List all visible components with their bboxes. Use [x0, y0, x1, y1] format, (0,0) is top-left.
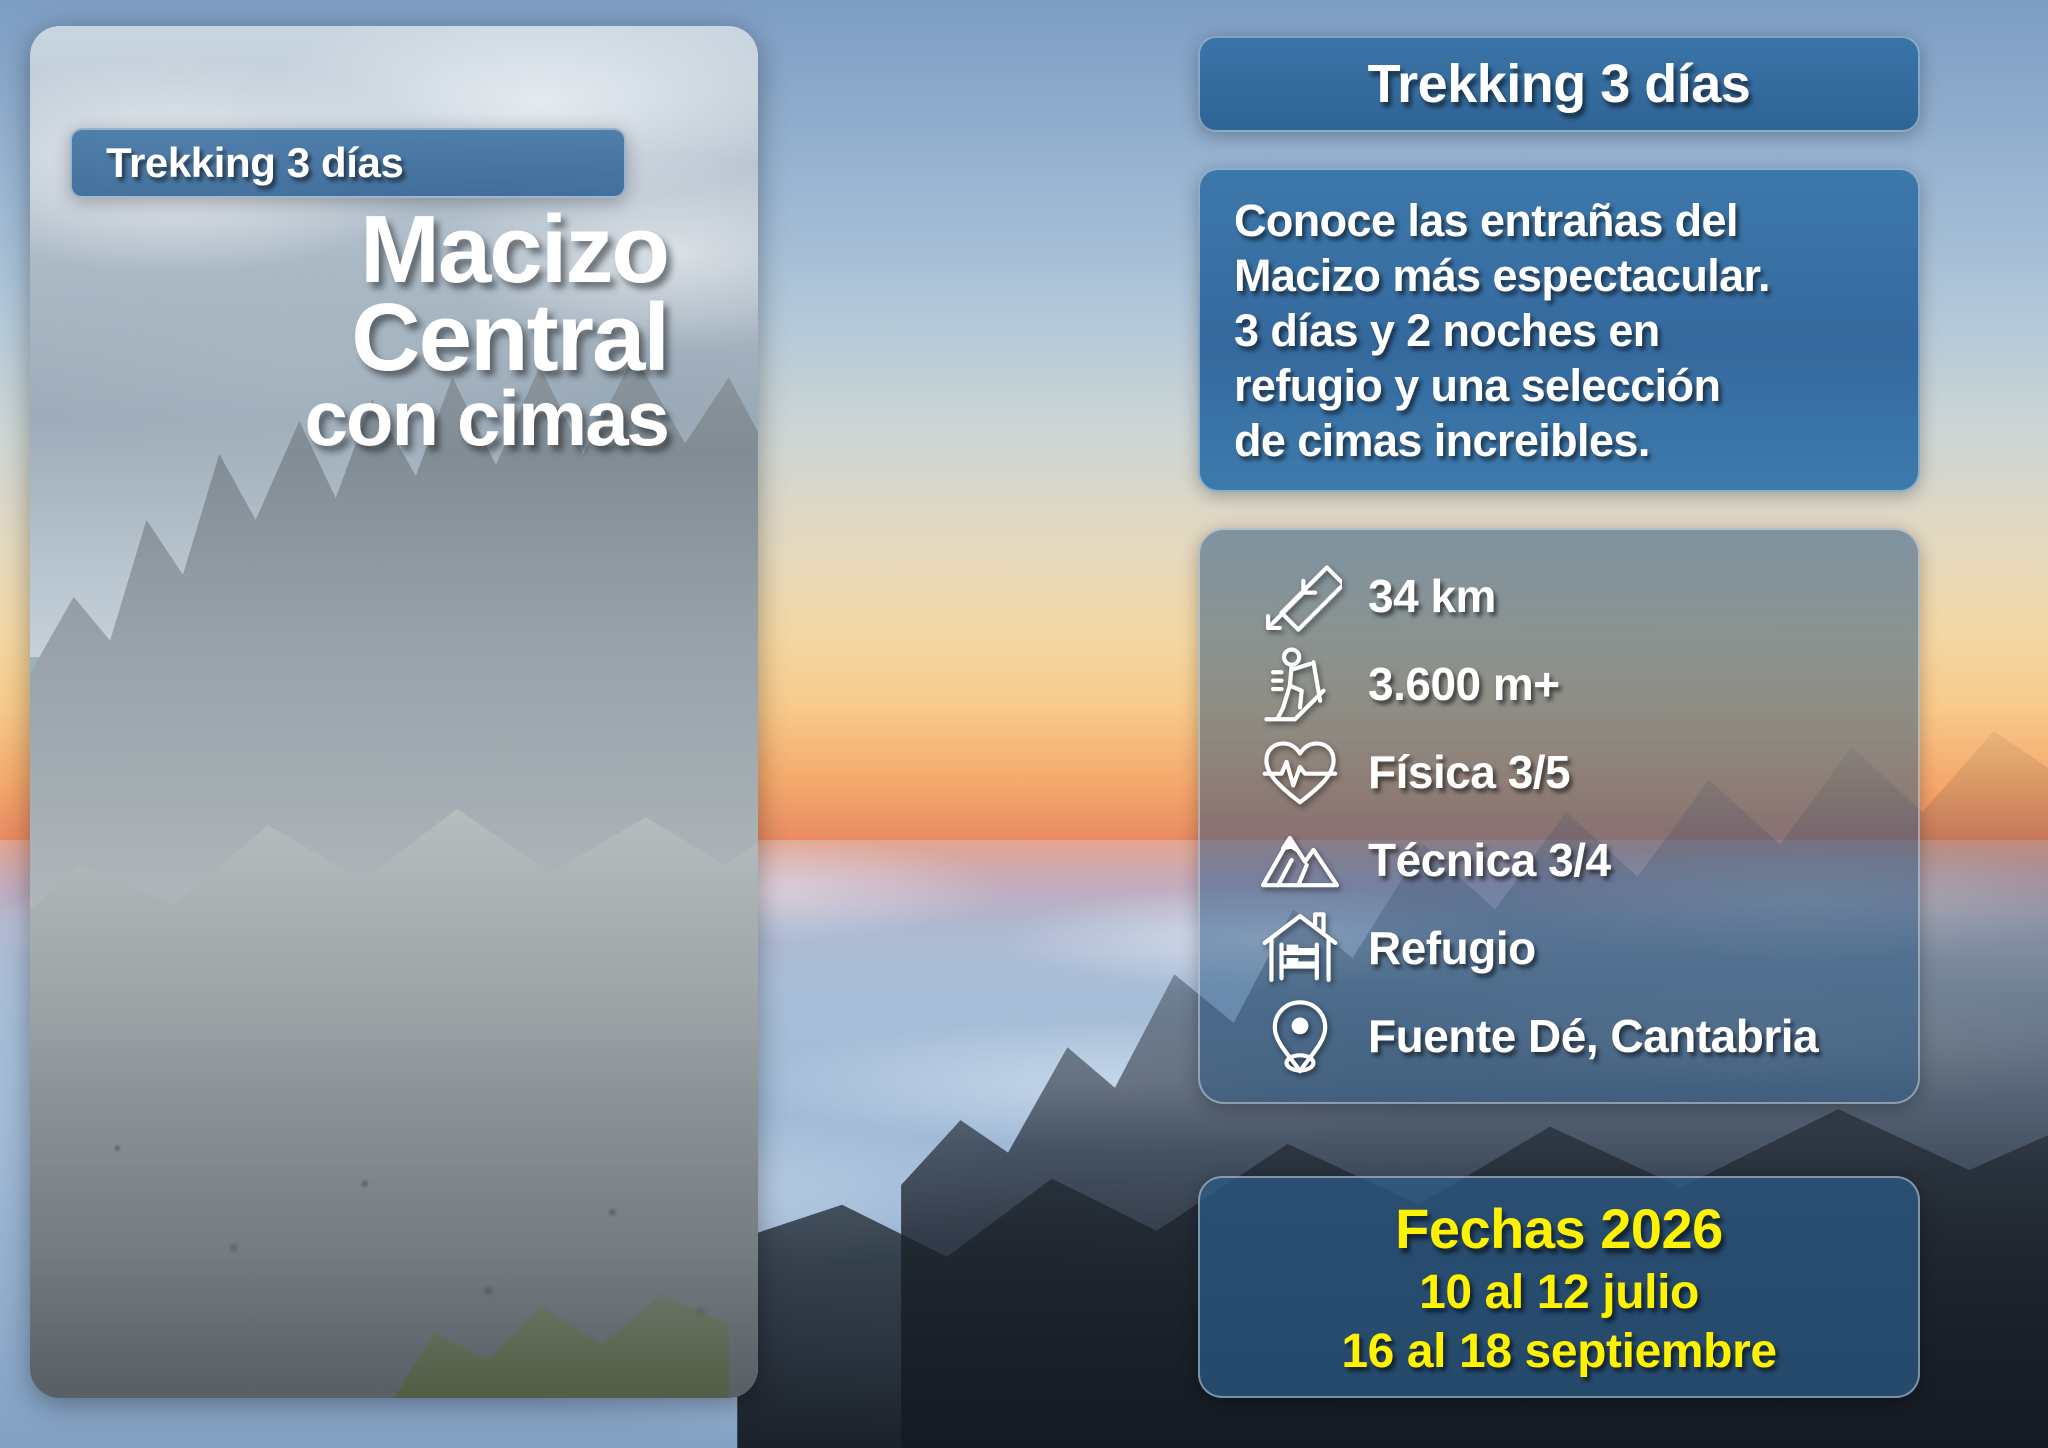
- stat-label-physical: Física 3/5: [1368, 745, 1570, 799]
- stat-row-technical: Técnica 3/4: [1226, 818, 1892, 902]
- mountain-icon: [1258, 818, 1342, 902]
- dates-option-1: 10 al 12 julio: [1419, 1265, 1699, 1320]
- description-text: Conoce las entrañas del Macizo más espec…: [1234, 194, 1888, 468]
- stat-row-accommodation: Refugio: [1226, 906, 1892, 990]
- refuge-bunkbed-icon: [1258, 906, 1342, 990]
- stat-row-distance: 34 km: [1226, 554, 1892, 638]
- photo-card-title-line1: Macizo Central: [70, 206, 668, 383]
- photo-card: Trekking 3 días Macizo Central con cimas: [30, 26, 758, 1398]
- stat-label-elevation: 3.600 m+: [1368, 657, 1560, 711]
- dates-panel: Fechas 2026 10 al 12 julio 16 al 18 sept…: [1198, 1176, 1920, 1398]
- trekking-poster: Trekking 3 días Macizo Central con cimas…: [0, 0, 2048, 1448]
- stats-panel: 34 km 3.600 m+: [1198, 528, 1920, 1104]
- header-title-label: Trekking 3 días: [1368, 53, 1751, 115]
- photo-card-title-line2: con cimas: [70, 383, 668, 455]
- stat-row-physical: Física 3/5: [1226, 730, 1892, 814]
- description-panel: Conoce las entrañas del Macizo más espec…: [1198, 168, 1920, 492]
- dates-option-2: 16 al 18 septiembre: [1341, 1324, 1776, 1379]
- dates-heading: Fechas 2026: [1395, 1196, 1723, 1261]
- ruler-distance-icon: [1258, 554, 1342, 638]
- stat-row-location: Fuente Dé, Cantabria: [1226, 994, 1892, 1078]
- photo-card-badge-label: Trekking 3 días: [106, 139, 403, 187]
- location-pin-icon: [1258, 994, 1342, 1078]
- stat-label-accommodation: Refugio: [1368, 921, 1536, 975]
- heart-pulse-icon: [1258, 730, 1342, 814]
- stat-label-location: Fuente Dé, Cantabria: [1368, 1009, 1818, 1063]
- photo-card-badge: Trekking 3 días: [70, 128, 626, 198]
- stat-label-distance: 34 km: [1368, 569, 1496, 623]
- stat-label-technical: Técnica 3/4: [1368, 833, 1611, 887]
- hiker-ascent-icon: [1258, 642, 1342, 726]
- photo-card-title: Macizo Central con cimas: [70, 206, 668, 454]
- stat-row-elevation: 3.600 m+: [1226, 642, 1892, 726]
- header-title-panel: Trekking 3 días: [1198, 36, 1920, 132]
